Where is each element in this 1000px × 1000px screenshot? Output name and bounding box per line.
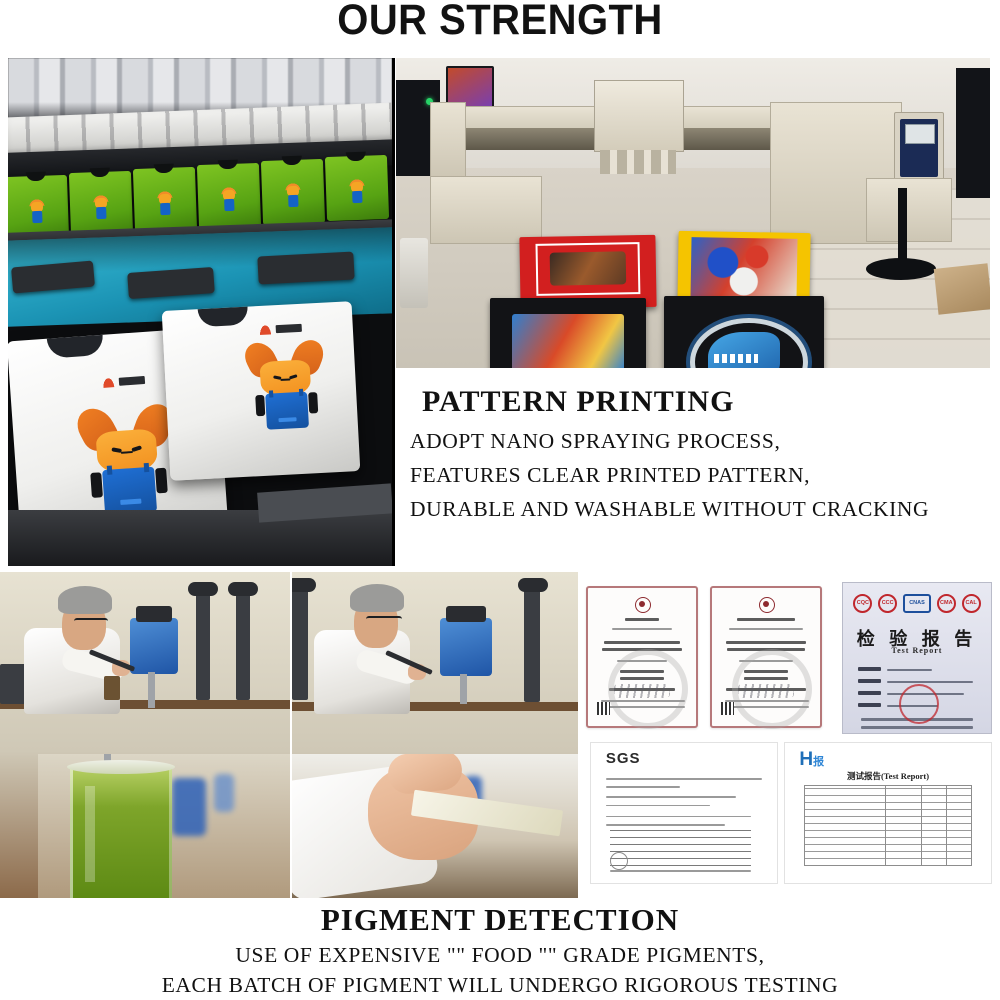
machine-base bbox=[8, 510, 392, 566]
certificates-panel: CQC CCC CNAS CMA CAL 检 验 报 告 Test Report… bbox=[580, 572, 1000, 898]
official-stamp-icon bbox=[899, 684, 939, 724]
pigment-detection-title: PIGMENT DETECTION bbox=[0, 900, 1000, 940]
eyeglasses bbox=[366, 616, 402, 625]
pigment-detection-line-1: USE OF EXPENSIVE "" FOOD "" GRADE PIGMEN… bbox=[0, 940, 1000, 970]
green-shirt bbox=[197, 163, 261, 229]
platen bbox=[257, 252, 354, 285]
bull-mascot-graphic bbox=[245, 339, 326, 435]
photo-dtg-flatbed-printer: COMPANY JUNIOR SHARKS bbox=[396, 58, 990, 368]
gantry-left-upright bbox=[430, 102, 466, 178]
h-report-table bbox=[804, 785, 973, 866]
background-equipment bbox=[956, 68, 990, 198]
chemist-hair bbox=[58, 586, 112, 614]
pigment-detection-text-block: PIGMENT DETECTION USE OF EXPENSIVE "" FO… bbox=[0, 900, 1000, 1000]
approval-seal-icon bbox=[635, 597, 651, 613]
green-shirt bbox=[325, 155, 389, 221]
printer-right-base bbox=[866, 178, 952, 242]
brand-logo-small bbox=[258, 322, 302, 335]
green-shirt bbox=[69, 171, 133, 237]
bucket bbox=[400, 238, 428, 308]
h-report-title: 测试报告(Test Report) bbox=[785, 770, 991, 782]
beaker bbox=[70, 768, 172, 898]
badge-cal-icon: CAL bbox=[962, 594, 981, 613]
photo-screen-printing-carousel bbox=[8, 58, 395, 566]
pattern-printing-text-block: PATTERN PRINTING ADOPT NANO SPRAYING PRO… bbox=[396, 380, 996, 526]
green-shirt bbox=[261, 159, 325, 225]
lab-mixer bbox=[440, 618, 492, 676]
green-shirt bbox=[133, 167, 197, 233]
badge-ccc-icon: CCC bbox=[878, 594, 897, 613]
badge-cqc-icon: CQC bbox=[853, 594, 872, 613]
printed-garment-junior-company: COMPANY JUNIOR bbox=[490, 298, 646, 368]
certification-badges: CQC CCC CNAS CMA CAL bbox=[853, 594, 980, 613]
photo-beaker-green-pigment bbox=[38, 754, 290, 898]
eyeglasses bbox=[74, 618, 108, 627]
pattern-printing-title: PATTERN PRINTING bbox=[396, 380, 996, 424]
chemist-hair bbox=[350, 584, 404, 612]
our-strength-infographic: OUR STRENGTH bbox=[0, 0, 1000, 1000]
printed-garment-sharks: SHARKS bbox=[664, 296, 824, 368]
brand-logo-small bbox=[102, 374, 146, 388]
stand-pole bbox=[898, 188, 907, 266]
sgs-seal-icon bbox=[610, 852, 628, 870]
pattern-printing-line-2: FEATURES CLEAR PRINTED PATTERN, bbox=[396, 458, 996, 492]
lab-mixer bbox=[130, 618, 178, 674]
lcd-display bbox=[905, 124, 935, 144]
printer-left-housing bbox=[430, 176, 542, 244]
certificate-h-test-report: H报 测试报告(Test Report) bbox=[784, 742, 992, 884]
certificate-iso-right bbox=[710, 586, 822, 728]
page-title: OUR STRENGTH bbox=[35, 0, 965, 44]
reagent-bottle bbox=[104, 676, 120, 700]
pigment-detection-line-2: EACH BATCH OF PIGMENT WILL UNDERGO RIGOR… bbox=[0, 970, 1000, 1000]
cardboard-box bbox=[934, 263, 990, 314]
print-head-carriage bbox=[594, 80, 684, 152]
badge-cnas-icon: CNAS bbox=[903, 594, 931, 613]
certificate-iso-left bbox=[586, 586, 698, 728]
printed-tshirt-front-right bbox=[162, 301, 361, 481]
certificate-sgs-report: SGS bbox=[590, 742, 778, 884]
pattern-printing-line-1: ADOPT NANO SPRAYING PROCESS, bbox=[396, 424, 996, 458]
bull-mascot-graphic bbox=[78, 402, 178, 520]
test-report-title-en: Test Report bbox=[843, 646, 991, 655]
control-panel[interactable] bbox=[894, 112, 944, 184]
photo-hand-holding-sample bbox=[292, 754, 578, 898]
h-logo: H报 bbox=[799, 749, 824, 771]
approval-seal-icon bbox=[759, 597, 775, 613]
pattern-printing-line-3: DURABLE AND WASHABLE WITHOUT CRACKING bbox=[396, 492, 996, 526]
sgs-logo: SGS bbox=[606, 750, 641, 767]
photo-lab-chemist-left bbox=[0, 572, 290, 898]
stand-base bbox=[866, 258, 936, 280]
print-head-vents bbox=[600, 150, 676, 174]
certificate-test-report: CQC CCC CNAS CMA CAL 检 验 报 告 Test Report bbox=[842, 582, 992, 734]
photo-lab-chemist-right bbox=[292, 572, 578, 898]
badge-cma-icon: CMA bbox=[937, 594, 956, 613]
shark-graphic bbox=[682, 314, 806, 368]
